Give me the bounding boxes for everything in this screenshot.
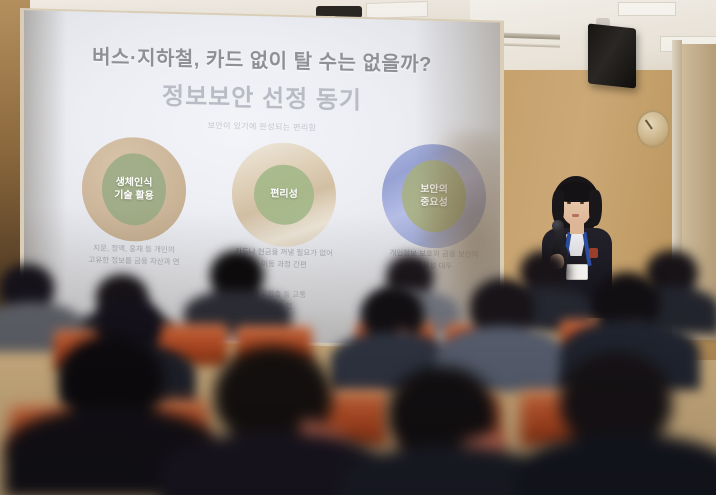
presenter-hair-side-right [589, 190, 602, 226]
ceiling-tile [618, 2, 676, 16]
wall-clock-icon [636, 110, 670, 148]
presenter-eye-left [567, 202, 571, 204]
microphone-icon [552, 220, 564, 232]
audience [0, 250, 716, 495]
presenter-eye-right [580, 202, 584, 204]
presentation-photo-scene: 버스·지하철, 카드 없이 탈 수는 없을까? 정보보안 선정 동기 보안이 있… [0, 0, 716, 495]
audience-head [560, 352, 672, 446]
presenter-mouth [572, 214, 579, 217]
ceiling-speaker [588, 23, 636, 88]
presenter-hair-side-left [552, 190, 564, 224]
